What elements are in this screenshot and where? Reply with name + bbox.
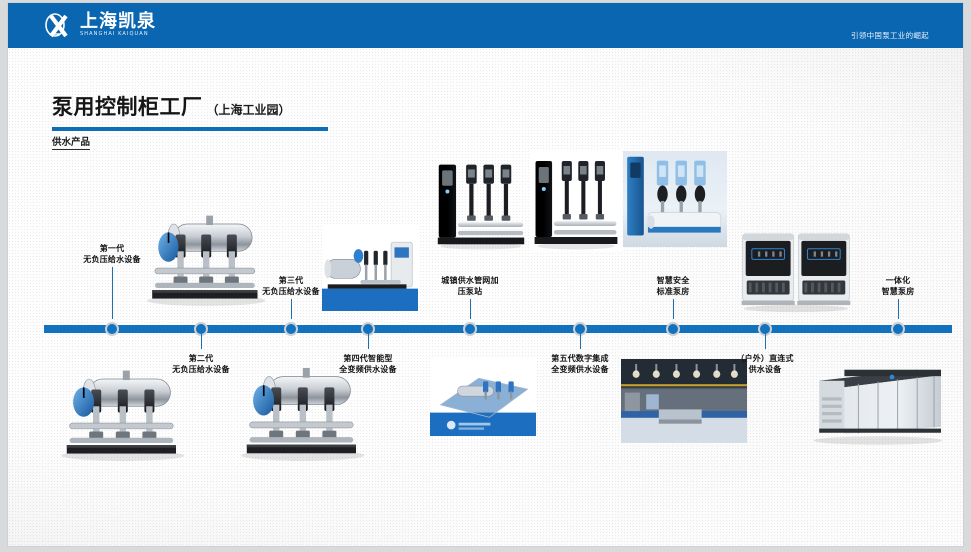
timeline-dot-icon (284, 322, 298, 336)
timeline-dot-icon (666, 322, 680, 336)
label-line-1: 第五代数字集成 (525, 353, 635, 364)
label-line-2: 压泵站 (415, 286, 525, 297)
label-line-1: 第四代智能型 (313, 353, 423, 364)
timeline-connector-line (368, 333, 369, 349)
section-label: 供水产品 (52, 134, 90, 150)
timeline-label-gen1: 第一代无负压给水设备 (57, 243, 167, 265)
timeline-label-gen2: 第二代无负压给水设备 (146, 353, 256, 375)
page-title-block: 泵用控制柜工厂 （上海工业园） (52, 91, 328, 131)
timeline-dot-icon (891, 322, 905, 336)
label-line-2: 无负压给水设备 (236, 286, 346, 297)
label-line-2: 无负压给水设备 (57, 254, 167, 265)
page-title-suffix: （上海工业园） (207, 101, 291, 118)
label-line-2: 全变频供水设备 (525, 364, 635, 375)
timeline-label-gen5: 第五代数字集成全变频供水设备 (525, 353, 635, 375)
timeline-label-smart: 智慧安全标准泵房 (618, 275, 728, 297)
timeline-connector-line (765, 333, 766, 349)
timeline-connector-line (291, 299, 292, 319)
label-line-1: 智慧安全 (618, 275, 728, 286)
timeline-label-booster: 城镇供水管网加压泵站 (415, 275, 525, 297)
gen4-vfd-supply-photo (322, 225, 418, 311)
logo-text-en: SHANGHAI KAIQUAN (80, 31, 156, 38)
outdoor-cabinet-photo (738, 225, 854, 313)
logo-text-cn: 上海凯泉 (80, 12, 156, 31)
vertical-pump-rack-photo-a (433, 155, 529, 251)
timeline-bar: 第一代无负压给水设备第二代无负压给水设备第三代无负压给水设备第四代智能型全变频供… (44, 325, 952, 333)
timeline-label-gen3: 第三代无负压给水设备 (236, 275, 346, 297)
label-line-2: 供水设备 (710, 364, 820, 375)
label-line-1: 城镇供水管网加 (415, 275, 525, 286)
integrated-pump-house-photo (808, 355, 948, 447)
header-slogan: 引领中国泵工业的崛起 (851, 30, 929, 41)
timeline-label-integrated: 一体化智慧泵房 (843, 275, 953, 297)
digital-vfd-unit-photo (623, 151, 727, 247)
timeline-connector-line (898, 299, 899, 319)
timeline-dot-icon (463, 322, 477, 336)
label-line-2: 无负压给水设备 (146, 364, 256, 375)
vertical-pump-rack-photo-b (530, 151, 622, 251)
label-line-1: （户外）直连式 (710, 353, 820, 364)
slide-canvas: 上海凯泉 SHANGHAI KAIQUAN 引领中国泵工业的崛起 泵用控制柜工厂… (8, 3, 963, 546)
kaiquan-mark-icon (44, 11, 74, 39)
timeline-connector-line (470, 299, 471, 319)
label-line-2: 智慧泵房 (843, 286, 953, 297)
timeline-connector-line (580, 333, 581, 349)
label-line-1: 第一代 (57, 243, 167, 254)
timeline-label-gen4: 第四代智能型全变频供水设备 (313, 353, 423, 375)
timeline-connector-line (201, 333, 202, 349)
label-line-2: 全变频供水设备 (313, 364, 423, 375)
title-underline (52, 127, 328, 131)
label-line-1: 第二代 (146, 353, 256, 364)
page-title: 泵用控制柜工厂 (52, 91, 203, 121)
page-header: 上海凯泉 SHANGHAI KAIQUAN 引领中国泵工业的崛起 (8, 3, 963, 48)
label-line-1: 第三代 (236, 275, 346, 286)
label-line-1: 一体化 (843, 275, 953, 286)
timeline-connector-line (673, 299, 674, 319)
brand-logo[interactable]: 上海凯泉 SHANGHAI KAIQUAN (44, 11, 156, 39)
booster-station-photo (430, 358, 536, 436)
timeline-dot-icon (105, 322, 119, 336)
timeline-label-outdoor: （户外）直连式供水设备 (710, 353, 820, 375)
timeline-connector-line (112, 267, 113, 319)
label-line-2: 标准泵房 (618, 286, 728, 297)
